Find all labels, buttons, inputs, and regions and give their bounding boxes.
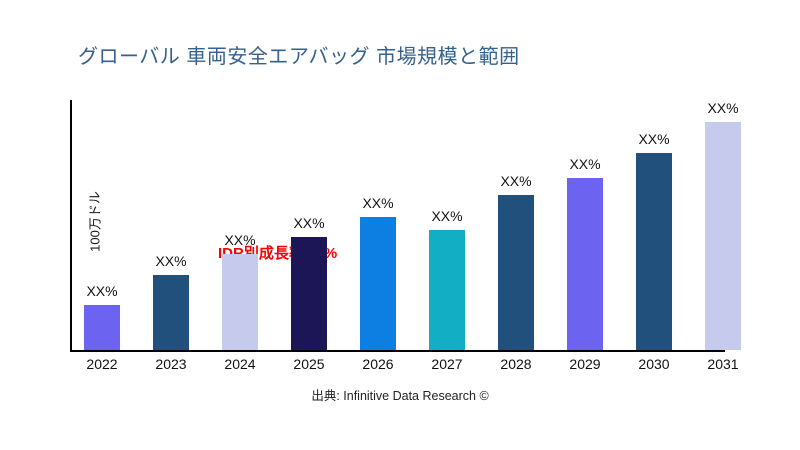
- x-tick-2029: 2029: [555, 356, 615, 372]
- x-tick-2022: 2022: [72, 356, 132, 372]
- bar-2025: [291, 237, 327, 350]
- bar-series: XX%XX%XX%XX%XX%XX%XX%XX%XX%XX%: [70, 100, 780, 350]
- bar-group-2024: XX%: [222, 100, 258, 350]
- bar-value-label-2030: XX%: [638, 131, 669, 147]
- bar-value-label-2023: XX%: [155, 253, 186, 269]
- bar-group-2027: XX%: [429, 100, 465, 350]
- bar-group-2023: XX%: [153, 100, 189, 350]
- x-axis-line: [70, 350, 725, 352]
- bar-value-label-2022: XX%: [86, 283, 117, 299]
- chart-container: グローバル 車両安全エアバッグ 市場規模と範囲 100万ドル IDR別成長率XX…: [0, 0, 800, 450]
- bar-value-label-2029: XX%: [569, 156, 600, 172]
- bar-2026: [360, 217, 396, 350]
- chart-title: グローバル 車両安全エアバッグ 市場規模と範囲: [78, 40, 520, 69]
- bar-2028: [498, 195, 534, 350]
- x-tick-2027: 2027: [417, 356, 477, 372]
- source-caption: 出典: Infinitive Data Research ©: [0, 385, 800, 404]
- bar-2029: [567, 178, 603, 350]
- x-tick-2031: 2031: [693, 356, 753, 372]
- plot-area: 100万ドル IDR別成長率XX% XX%XX%XX%XX%XX%XX%XX%X…: [70, 100, 780, 350]
- bar-group-2030: XX%: [636, 100, 672, 350]
- x-tick-2025: 2025: [279, 356, 339, 372]
- bar-2022: [84, 305, 120, 350]
- x-tick-2026: 2026: [348, 356, 408, 372]
- bar-group-2025: XX%: [291, 100, 327, 350]
- x-axis-tick-labels: 2022202320242025202620272028202920302031: [70, 356, 780, 380]
- x-tick-2023: 2023: [141, 356, 201, 372]
- bar-2024: [222, 254, 258, 350]
- bar-value-label-2026: XX%: [362, 195, 393, 211]
- bar-value-label-2028: XX%: [500, 173, 531, 189]
- bar-group-2028: XX%: [498, 100, 534, 350]
- x-tick-2024: 2024: [210, 356, 270, 372]
- bar-value-label-2025: XX%: [293, 215, 324, 231]
- bar-group-2026: XX%: [360, 100, 396, 350]
- bar-group-2022: XX%: [84, 100, 120, 350]
- bar-2023: [153, 275, 189, 350]
- x-tick-2030: 2030: [624, 356, 684, 372]
- bar-value-label-2031: XX%: [707, 100, 738, 116]
- bar-2030: [636, 153, 672, 350]
- bar-2031: [705, 122, 741, 350]
- bar-group-2031: XX%: [705, 100, 741, 350]
- bar-value-label-2024: XX%: [224, 232, 255, 248]
- bar-group-2029: XX%: [567, 100, 603, 350]
- bar-2027: [429, 230, 465, 350]
- bar-value-label-2027: XX%: [431, 208, 462, 224]
- x-tick-2028: 2028: [486, 356, 546, 372]
